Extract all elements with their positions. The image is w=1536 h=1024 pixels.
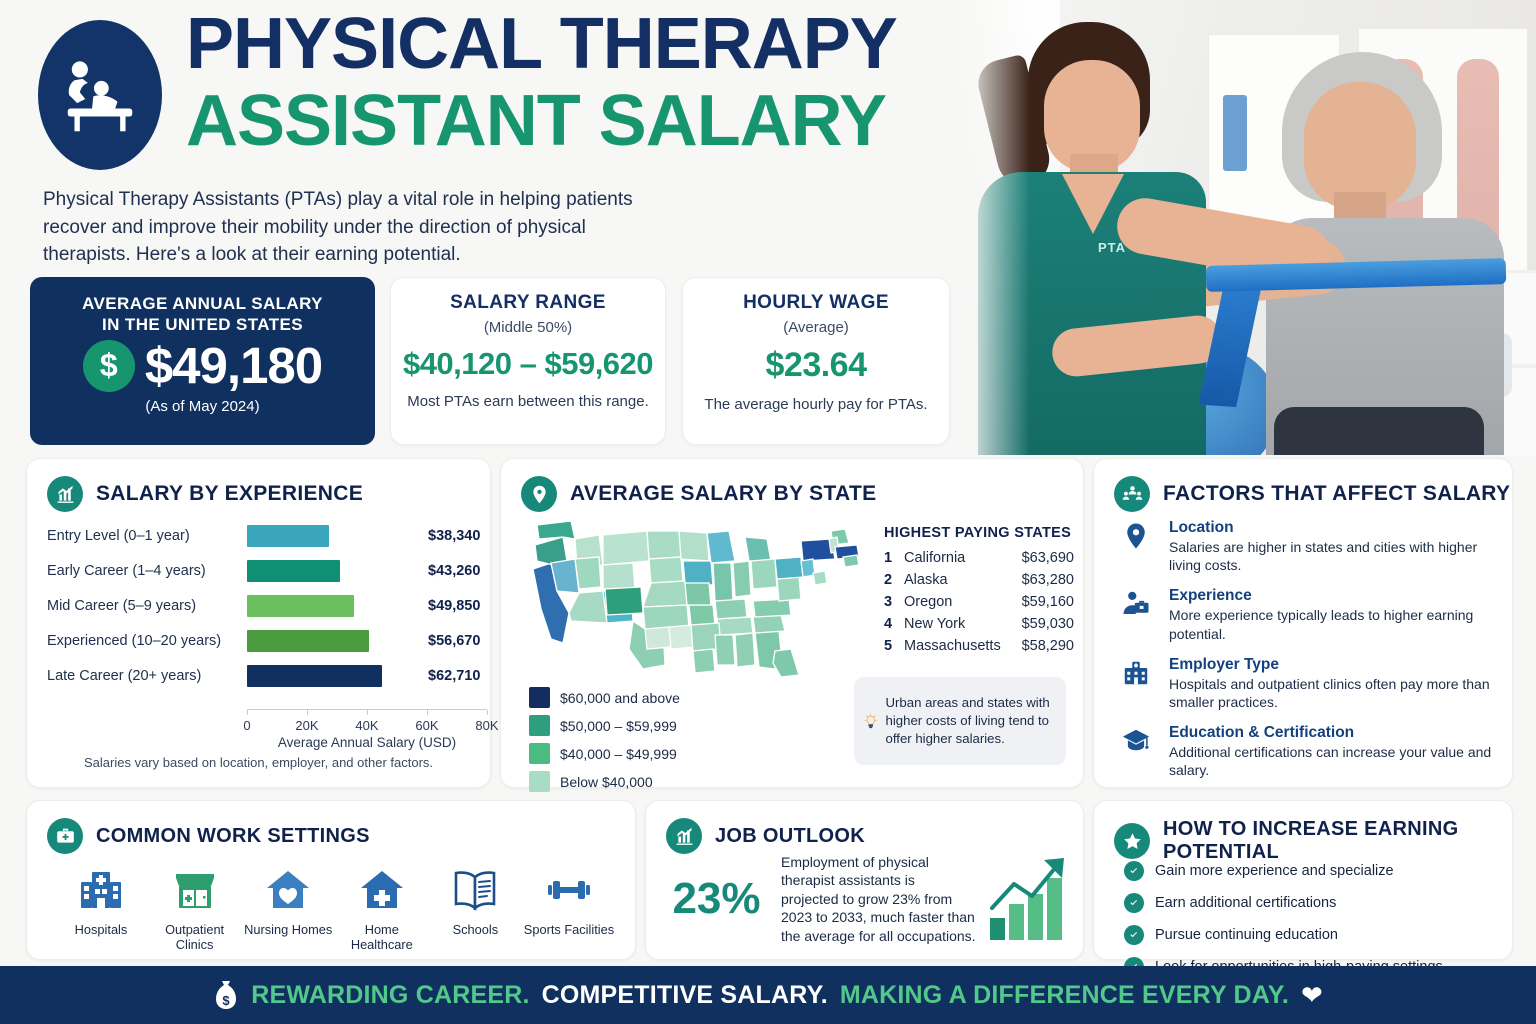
panel-title: SALARY BY EXPERIENCE (96, 482, 363, 506)
footer-part-3: MAKING A DIFFERENCE EVERY DAY. (840, 981, 1289, 1010)
range-note: Most PTAs earn between this range. (391, 392, 665, 412)
title-line-1: PHYSICAL THERAPY (186, 10, 897, 78)
legend-label: $60,000 and above (560, 690, 680, 706)
clinic-storefront-icon (149, 856, 241, 914)
map-pin-icon (521, 476, 557, 512)
hourly-note: The average hourly pay for PTAs. (683, 395, 949, 415)
how-to-label: Pursue continuing education (1155, 927, 1338, 943)
bar (247, 525, 329, 547)
lightbulb-icon (864, 699, 878, 743)
state-rank: 4 (884, 616, 904, 632)
state-name: Massachusetts (904, 638, 1022, 654)
open-book-icon (429, 856, 521, 914)
chart-bar-row: Late Career (20+ years)$62,710 (47, 661, 487, 691)
title-line-2: ASSISTANT SALARY (186, 84, 897, 160)
bar-track (247, 595, 419, 617)
how-to-item: Gain more experience and specialize (1124, 861, 1504, 881)
hospital-building-icon (1116, 656, 1156, 711)
house-heart-icon (242, 856, 334, 914)
how-to-label: Earn additional certifications (1155, 895, 1336, 911)
how-to-label: Gain more experience and specialize (1155, 863, 1394, 879)
state-rank: 3 (884, 594, 904, 610)
work-setting-label: Home Healthcare (336, 922, 428, 952)
bar-category-label: Late Career (20+ years) (47, 668, 247, 684)
factor-item: Employer TypeHospitals and outpatient cl… (1116, 656, 1502, 711)
state-row: 5Massachusetts$58,290 (884, 638, 1074, 654)
house-cross-icon (336, 856, 428, 914)
state-salary: $58,290 (1022, 638, 1074, 654)
person-briefcase-icon (1116, 587, 1156, 642)
bar-chart-icon (47, 476, 83, 512)
salary-range-card: SALARY RANGE (Middle 50%) $40,120 – $59,… (390, 277, 666, 445)
work-setting-item: Nursing Homes (242, 856, 334, 952)
chart-bar-row: Entry Level (0–1 year)$38,340 (47, 521, 487, 551)
axis-tick-label: 20K (295, 718, 318, 733)
map-legend: $60,000 and above$50,000 – $59,999$40,00… (529, 687, 680, 799)
factor-description: Hospitals and outpatient clinics often p… (1169, 675, 1502, 711)
work-setting-label: Sports Facilities (523, 922, 615, 937)
footer-part-1: REWARDING CAREER. (251, 981, 529, 1010)
bar-track (247, 630, 419, 652)
factors-panel: FACTORS THAT AFFECT SALARY LocationSalar… (1093, 458, 1513, 788)
how-to-item: Earn additional certifications (1124, 893, 1504, 913)
highest-paying-states: HIGHEST PAYING STATES 1California$63,690… (884, 525, 1074, 660)
axis-tick (367, 710, 368, 715)
legend-item: $50,000 – $59,999 (529, 715, 680, 736)
bar-track (247, 560, 419, 582)
range-value: $40,120 – $59,620 (391, 346, 665, 382)
rising-bars-arrow-icon (988, 856, 1070, 942)
bar-value-label: $38,340 (428, 528, 480, 544)
work-setting-label: Outpatient Clinics (149, 922, 241, 952)
check-circle-icon (1124, 861, 1144, 881)
heart-icon: ❤ (1301, 982, 1323, 1008)
state-row: 4New York$59,030 (884, 616, 1074, 632)
job-growth-percent: 23% (664, 874, 769, 924)
work-setting-label: Schools (429, 922, 521, 937)
hourly-subtitle: (Average) (683, 319, 949, 336)
people-group-icon (1114, 476, 1150, 512)
factor-title: Employer Type (1169, 656, 1502, 674)
legend-swatch (529, 743, 550, 764)
x-axis-title: Average Annual Salary (USD) (247, 735, 487, 750)
states-title: HIGHEST PAYING STATES (884, 525, 1074, 541)
footer-banner: $ REWARDING CAREER. COMPETITIVE SALARY. … (0, 966, 1536, 1024)
job-outlook-text: Employment of physical therapist assista… (781, 853, 976, 945)
check-circle-icon (1124, 893, 1144, 913)
job-outlook-panel: JOB OUTLOOK 23% Employment of physical t… (645, 800, 1084, 960)
work-setting-item: Sports Facilities (523, 856, 615, 952)
state-name: California (904, 550, 1022, 566)
axis-tick (427, 710, 428, 715)
dumbbell-icon (523, 856, 615, 914)
legend-item: Below $40,000 (529, 771, 680, 792)
us-map-svg (523, 517, 873, 702)
graduation-cap-icon (1116, 724, 1156, 779)
salary-by-experience-panel: SALARY BY EXPERIENCE Entry Level (0–1 ye… (26, 458, 491, 788)
panel-title: COMMON WORK SETTINGS (96, 825, 370, 848)
bar (247, 595, 354, 617)
legend-label: $50,000 – $59,999 (560, 718, 677, 734)
logo-badge (38, 20, 162, 170)
avg-salary-date: (As of May 2024) (30, 398, 375, 415)
therapy-table-icon (57, 52, 143, 138)
avg-salary-value: $49,180 (145, 340, 322, 391)
state-name: Oregon (904, 594, 1022, 610)
state-row: 3Oregon$59,160 (884, 594, 1074, 610)
bar-category-label: Experienced (10–20 years) (47, 633, 247, 649)
state-salary: $59,160 (1022, 594, 1074, 610)
legend-swatch (529, 771, 550, 792)
average-salary-card: AVERAGE ANNUAL SALARY IN THE UNITED STAT… (30, 277, 375, 445)
work-setting-item: Outpatient Clinics (149, 856, 241, 952)
money-bag-icon: $ (213, 980, 239, 1010)
factor-title: Experience (1169, 587, 1502, 605)
factor-description: More experience typically leads to highe… (1169, 606, 1502, 642)
legend-label: $40,000 – $49,999 (560, 746, 677, 762)
work-setting-item: Hospitals (55, 856, 147, 952)
hourly-wage-card: HOURLY WAGE (Average) $23.64 The average… (682, 277, 950, 445)
avg-label-line2: IN THE UNITED STATES (30, 314, 375, 335)
factor-title: Location (1169, 519, 1502, 537)
bar-track (247, 665, 419, 687)
axis-tick (307, 710, 308, 715)
factor-item: LocationSalaries are higher in states an… (1116, 519, 1502, 574)
panel-title: HOW TO INCREASE EARNING POTENTIAL (1163, 818, 1512, 864)
legend-swatch (529, 715, 550, 736)
star-icon (1114, 823, 1150, 859)
legend-swatch (529, 687, 550, 708)
factor-description: Additional certifications can increase y… (1169, 743, 1502, 779)
state-name: New York (904, 616, 1022, 632)
hero-photo: PTA (960, 0, 1536, 455)
footer-part-2: COMPETITIVE SALARY. (542, 981, 828, 1010)
chart-bar-row: Mid Career (5–9 years)$49,850 (47, 591, 487, 621)
bar-track (247, 525, 419, 547)
bar (247, 560, 340, 582)
medical-briefcase-icon (47, 818, 83, 854)
chart-bar-row: Early Career (1–4 years)$43,260 (47, 556, 487, 586)
work-setting-item: Schools (429, 856, 521, 952)
chart-bar-row: Experienced (10–20 years)$56,670 (47, 626, 487, 656)
salary-by-state-panel: AVERAGE SALARY BY STATE (500, 458, 1084, 788)
bar (247, 630, 369, 652)
panel-title: JOB OUTLOOK (715, 825, 865, 848)
axis-tick-label: 80K (475, 718, 498, 733)
state-salary: $59,030 (1022, 616, 1074, 632)
intro-paragraph: Physical Therapy Assistants (PTAs) play … (43, 186, 663, 269)
factor-item: ExperienceMore experience typically lead… (1116, 587, 1502, 642)
bar-value-label: $56,670 (428, 633, 480, 649)
growth-chart-icon (666, 818, 702, 854)
work-settings-panel: COMMON WORK SETTINGS HospitalsOutpatient… (26, 800, 636, 960)
panel-title: FACTORS THAT AFFECT SALARY (1163, 482, 1510, 506)
state-salary: $63,280 (1022, 572, 1074, 588)
page-title: PHYSICAL THERAPY ASSISTANT SALARY (186, 10, 897, 160)
tip-box: Urban areas and states with higher costs… (854, 677, 1066, 765)
axis-tick (247, 710, 248, 715)
work-setting-label: Nursing Homes (242, 922, 334, 937)
bar-category-label: Early Career (1–4 years) (47, 563, 247, 579)
hourly-value: $23.64 (683, 346, 949, 385)
work-setting-label: Hospitals (55, 922, 147, 937)
avg-label-line1: AVERAGE ANNUAL SALARY (30, 293, 375, 314)
check-circle-icon (1124, 925, 1144, 945)
state-rank: 1 (884, 550, 904, 566)
axis-tick (487, 710, 488, 715)
bar-category-label: Mid Career (5–9 years) (47, 598, 247, 614)
axis-tick-label: 60K (415, 718, 438, 733)
state-rank: 2 (884, 572, 904, 588)
state-row: 2Alaska$63,280 (884, 572, 1074, 588)
range-title: SALARY RANGE (391, 278, 665, 314)
legend-item: $60,000 and above (529, 687, 680, 708)
hourly-title: HOURLY WAGE (683, 278, 949, 314)
bar-value-label: $43,260 (428, 563, 480, 579)
work-setting-item: Home Healthcare (336, 856, 428, 952)
experience-bar-chart: Entry Level (0–1 year)$38,340Early Caree… (47, 521, 487, 721)
experience-footnote: Salaries vary based on location, employe… (27, 755, 490, 770)
legend-item: $40,000 – $49,999 (529, 743, 680, 764)
bar (247, 665, 382, 687)
us-choropleth-map (523, 517, 873, 702)
panel-title: AVERAGE SALARY BY STATE (570, 482, 876, 506)
dollar-icon: $ (83, 340, 135, 392)
factor-description: Salaries are higher in states and cities… (1169, 538, 1502, 574)
infographic-page: PTA PHYSICAL THERAPY ASSISTANT SALARY (0, 0, 1536, 1024)
range-subtitle: (Middle 50%) (391, 319, 665, 336)
state-salary: $63,690 (1022, 550, 1074, 566)
svg-text:$: $ (223, 993, 231, 1008)
factor-item: Education & CertificationAdditional cert… (1116, 724, 1502, 779)
axis-tick-label: 40K (355, 718, 378, 733)
hospital-icon (55, 856, 147, 914)
how-to-increase-panel: HOW TO INCREASE EARNING POTENTIAL Gain m… (1093, 800, 1513, 960)
axis-tick-label: 0 (243, 718, 250, 733)
state-row: 1California$63,690 (884, 550, 1074, 566)
tip-text: Urban areas and states with higher costs… (886, 694, 1056, 747)
state-name: Alaska (904, 572, 1022, 588)
bar-value-label: $62,710 (428, 668, 480, 684)
factor-title: Education & Certification (1169, 724, 1502, 742)
legend-label: Below $40,000 (560, 774, 653, 790)
bar-value-label: $49,850 (428, 598, 480, 614)
how-to-item: Pursue continuing education (1124, 925, 1504, 945)
state-rank: 5 (884, 638, 904, 654)
map-pin-icon (1116, 519, 1156, 574)
bar-category-label: Entry Level (0–1 year) (47, 528, 247, 544)
